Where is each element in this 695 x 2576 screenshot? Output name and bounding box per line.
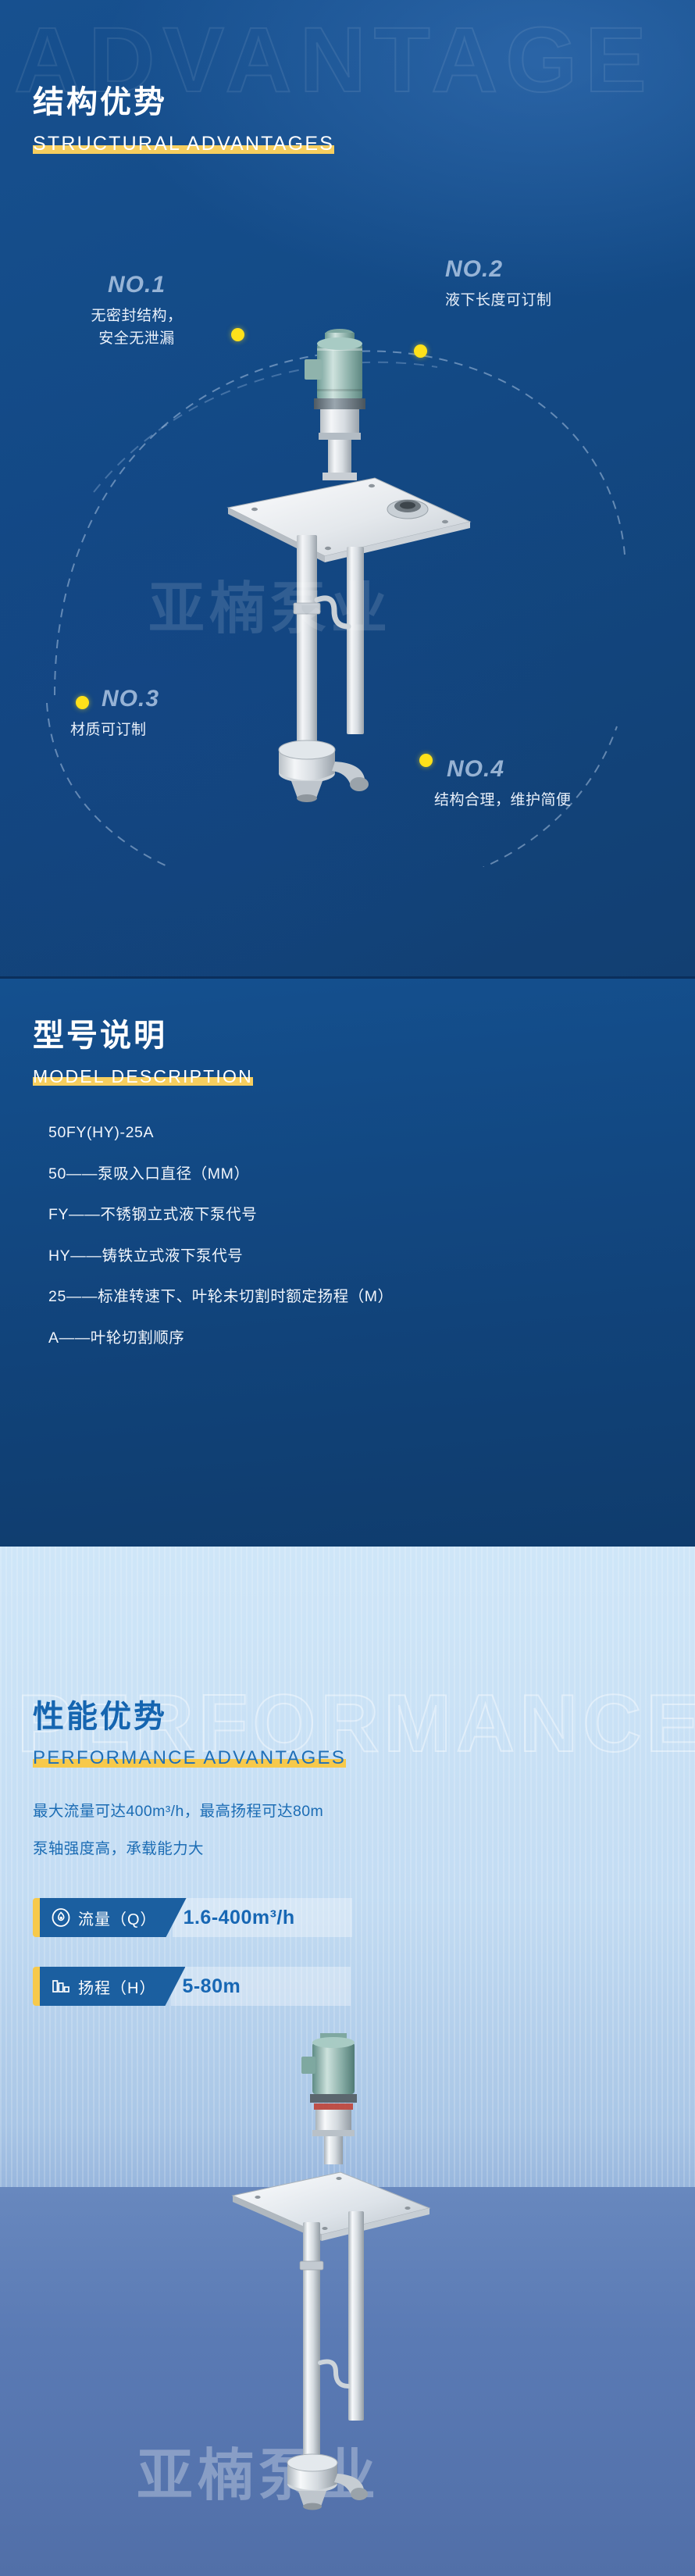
marker-dot-2 [414,344,427,358]
marker-dot-3 [76,696,89,709]
section-performance-advantages: PERFORMANCE 性能优势 PERFORMANCE ADVANTAGES … [0,1547,695,2576]
feature-item-4: NO.4 结构合理，维护简便 [447,758,681,812]
spec-label-flow: 流量（Q） [78,1907,157,1929]
model-description-list: 50FY(HY)-25A 50——泵吸入口直径（MM） FY——不锈钢立式液下泵… [48,1126,665,1372]
spec-tag-flow: 流量（Q） [40,1898,187,1937]
list-item: HY——铸铁立式液下泵代号 [48,1249,665,1265]
spec-value-flow: 1.6-400m³/h [173,1898,352,1937]
feature-number-3: NO.3 [102,687,281,711]
bar-chart-icon [51,1976,71,1996]
spec-label-head: 扬程（H） [78,1975,155,1998]
feature-desc-4: 结构合理，维护简便 [434,789,681,812]
list-item: 50——泵吸入口直径（MM） [48,1167,665,1183]
list-item: 50FY(HY)-25A [48,1126,665,1141]
section-model-description: 型号说明 MODEL DESCRIPTION 50FY(HY)-25A 50——… [0,976,695,1547]
spec-row-head: 扬程（H） 5-80m [33,1967,351,2006]
spec-accent-bar [33,1898,40,1937]
spec-accent-bar [33,1967,40,2006]
performance-title-block: 性能优势 PERFORMANCE ADVANTAGES [33,1699,346,1769]
feature-number-2: NO.2 [445,258,648,281]
product-detail-page: ADVANTAGE 结构优势 STRUCTURAL ADVANTAGES [0,0,695,2576]
marker-dot-4 [419,754,433,767]
marker-dot-1 [231,328,244,341]
performance-en-title-wrap: PERFORMANCE ADVANTAGES [33,1747,346,1769]
model-title: 型号说明 [33,1018,253,1054]
feature-number-4: NO.4 [447,758,681,781]
page-title: 结构优势 [33,84,334,120]
spec-value-head: 5-80m [171,1967,351,2006]
performance-subtitle: PERFORMANCE ADVANTAGES [33,1747,346,1769]
model-en-title-wrap: MODEL DESCRIPTION [33,1066,253,1087]
model-subtitle: MODEL DESCRIPTION [33,1066,253,1087]
performance-description: 最大流量可达400m³/h，最高扬程可达80m 泵轴强度高，承载能力大 [33,1804,323,1878]
structural-subtitle: STRUCTURAL ADVANTAGES [33,133,334,155]
model-title-block: 型号说明 MODEL DESCRIPTION [33,1018,253,1087]
performance-line: 泵轴强度高，承载能力大 [33,1842,323,1857]
performance-title: 性能优势 [33,1699,346,1735]
spec-row-flow: 流量（Q） 1.6-400m³/h [33,1898,352,1937]
feature-desc-3: 材质可订制 [70,719,281,741]
product-image-pump-tall [195,2027,508,2527]
feature-item-1: NO.1 无密封结构， 安全无泄漏 [47,273,226,351]
product-image-pump [180,312,515,828]
section-structural-advantages: ADVANTAGE 结构优势 STRUCTURAL ADVANTAGES [0,0,695,976]
feature-item-3: NO.3 材质可订制 [102,687,281,741]
performance-line: 最大流量可达400m³/h，最高扬程可达80m [33,1804,323,1820]
feature-number-1: NO.1 [47,273,226,297]
list-item: FY——不锈钢立式液下泵代号 [48,1208,665,1223]
droplet-icon [51,1907,71,1928]
list-item: 25——标准转速下、叶轮未切割时额定扬程（M） [48,1290,665,1305]
list-item: A——叶轮切割顺序 [48,1331,665,1347]
structural-title-block: 结构优势 STRUCTURAL ADVANTAGES [33,84,334,155]
feature-desc-1: 无密封结构， 安全无泄漏 [47,305,226,351]
structural-en-title-wrap: STRUCTURAL ADVANTAGES [33,133,334,155]
feature-desc-2: 液下长度可订制 [445,289,648,312]
feature-item-2: NO.2 液下长度可订制 [445,258,648,312]
spec-tag-head: 扬程（H） [40,1967,185,2006]
